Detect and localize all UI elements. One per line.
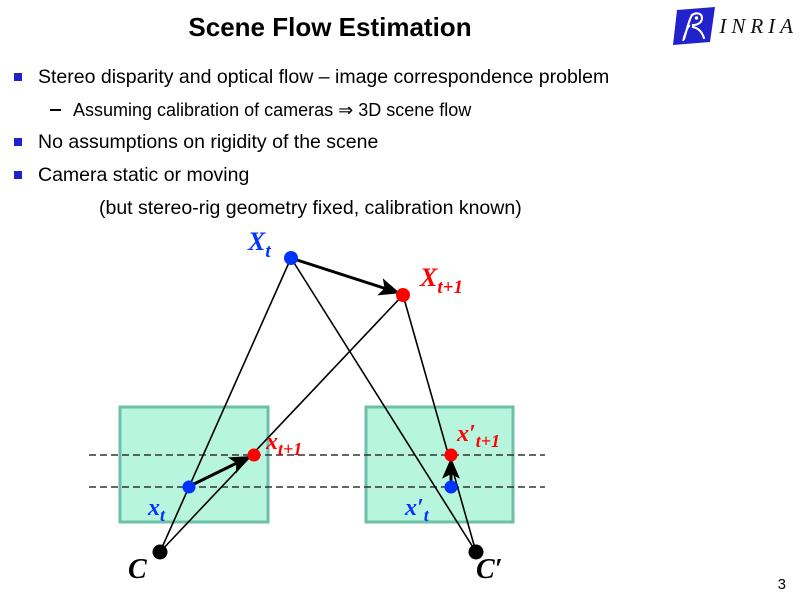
bullet-item-3-label: No assumptions on rigidity of the scene xyxy=(38,127,378,158)
page-title: Scene Flow Estimation xyxy=(0,12,660,43)
bullet-item-4: Camera static or moving xyxy=(14,160,714,191)
left-camera-center-dot xyxy=(153,545,168,560)
bullet-continuation-label: (but stereo-rig geometry fixed, calibrat… xyxy=(14,193,714,223)
inria-bird-mark-icon xyxy=(671,6,715,46)
right-image-point-t-dot xyxy=(445,481,458,494)
bullet-dash-icon xyxy=(50,109,61,111)
bullet-square-icon xyxy=(14,138,22,146)
slide-canvas: Scene Flow Estimation INRIA Stereo dispa… xyxy=(0,0,800,599)
scene-point-t-label: Xt xyxy=(247,228,271,262)
left-camera-center-label: C xyxy=(128,554,147,583)
bullet-square-icon xyxy=(14,73,22,81)
slide-number: 3 xyxy=(778,576,786,593)
inria-wordmark: INRIA xyxy=(719,16,798,37)
right-camera-center-label: C′ xyxy=(476,554,503,583)
bullet-item-4-label: Camera static or moving xyxy=(38,160,249,191)
bullet-item-2: Assuming calibration of cameras ⇒ 3D sce… xyxy=(14,95,714,125)
bullet-item-2-label: Assuming calibration of cameras ⇒ 3D sce… xyxy=(73,95,471,125)
left-image-point-t-dot xyxy=(183,481,196,494)
left-image-point-t1-dot xyxy=(248,449,261,462)
bullet-item-1: Stereo disparity and optical flow – imag… xyxy=(14,62,714,93)
bullet-item-3: No assumptions on rigidity of the scene xyxy=(14,127,714,158)
scene-flow-svg: Xt Xt+1 xt+1 xt x′t+1 x′t C C′ xyxy=(0,228,800,583)
scene-flow-arrow xyxy=(297,260,396,292)
left-image-plane xyxy=(120,407,268,522)
scene-point-t1-label: Xt+1 xyxy=(419,263,463,298)
bullet-item-1-label: Stereo disparity and optical flow – imag… xyxy=(38,62,609,93)
bullet-list: Stereo disparity and optical flow – imag… xyxy=(14,62,714,223)
inria-logo: INRIA xyxy=(671,6,798,46)
scene-point-t-dot xyxy=(284,251,298,265)
right-image-point-t1-dot xyxy=(445,449,458,462)
bullet-square-icon xyxy=(14,171,22,179)
scene-point-t1-dot xyxy=(396,288,410,302)
scene-flow-diagram: Xt Xt+1 xt+1 xt x′t+1 x′t C C′ xyxy=(0,228,800,583)
left-image-point-t1-label: xt+1 xyxy=(265,429,302,459)
